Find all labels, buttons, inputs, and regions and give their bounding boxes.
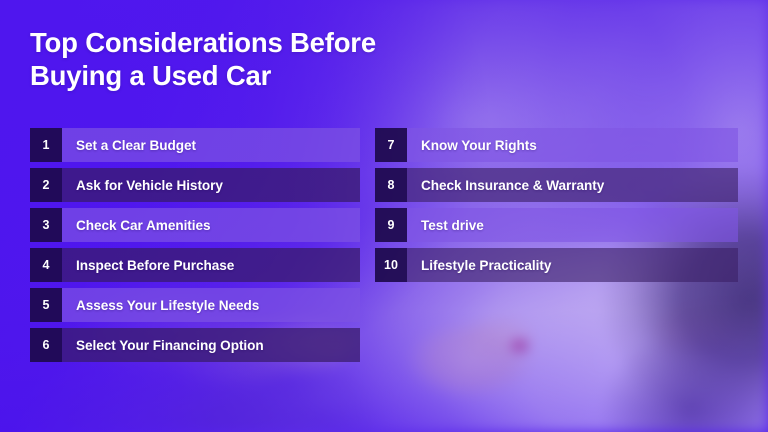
list-item-number: 8 [375, 168, 407, 202]
list-item-label: Ask for Vehicle History [62, 168, 360, 202]
consideration-list-left: 1 Set a Clear Budget 2 Ask for Vehicle H… [30, 128, 360, 362]
list-item-label: Check Car Amenities [62, 208, 360, 242]
list-item-number: 5 [30, 288, 62, 322]
list-item: 3 Check Car Amenities [30, 208, 360, 242]
list-item-label: Assess Your Lifestyle Needs [62, 288, 360, 322]
list-item: 2 Ask for Vehicle History [30, 168, 360, 202]
list-item-label: Lifestyle Practicality [407, 248, 738, 282]
content-area: Top Considerations Before Buying a Used … [0, 0, 768, 432]
list-item: 4 Inspect Before Purchase [30, 248, 360, 282]
list-item-number: 1 [30, 128, 62, 162]
list-item-label: Inspect Before Purchase [62, 248, 360, 282]
list-item-label: Check Insurance & Warranty [407, 168, 738, 202]
infographic-canvas: Top Considerations Before Buying a Used … [0, 0, 768, 432]
list-item-label: Select Your Financing Option [62, 328, 360, 362]
list-item-label: Set a Clear Budget [62, 128, 360, 162]
list-item-number: 10 [375, 248, 407, 282]
list-item-number: 6 [30, 328, 62, 362]
list-item: 7 Know Your Rights [375, 128, 738, 162]
list-item-number: 2 [30, 168, 62, 202]
list-item: 6 Select Your Financing Option [30, 328, 360, 362]
list-item: 5 Assess Your Lifestyle Needs [30, 288, 360, 322]
list-item: 1 Set a Clear Budget [30, 128, 360, 162]
consideration-list-right: 7 Know Your Rights 8 Check Insurance & W… [375, 128, 738, 282]
list-item: 9 Test drive [375, 208, 738, 242]
page-title: Top Considerations Before Buying a Used … [30, 27, 376, 92]
list-item-number: 7 [375, 128, 407, 162]
list-item: 10 Lifestyle Practicality [375, 248, 738, 282]
list-item-number: 9 [375, 208, 407, 242]
list-item-number: 3 [30, 208, 62, 242]
list-item-number: 4 [30, 248, 62, 282]
list-item-label: Know Your Rights [407, 128, 738, 162]
list-item: 8 Check Insurance & Warranty [375, 168, 738, 202]
list-item-label: Test drive [407, 208, 738, 242]
